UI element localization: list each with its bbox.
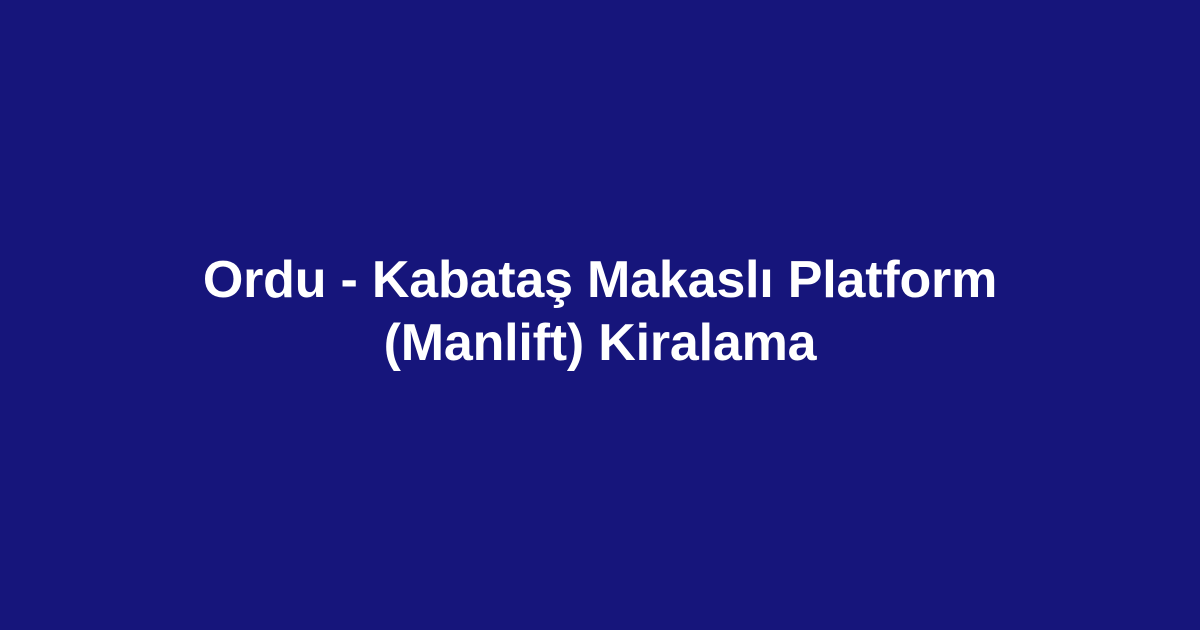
- social-share-card: Ordu - Kabataş Makaslı Platform (Manlift…: [0, 0, 1200, 630]
- card-content: Ordu - Kabataş Makaslı Platform (Manlift…: [150, 249, 1050, 375]
- page-title-line-1: Ordu - Kabataş Makaslı Platform: [150, 249, 1050, 312]
- page-title: Ordu - Kabataş Makaslı Platform (Manlift…: [150, 249, 1050, 375]
- page-title-line-2: (Manlift) Kiralama: [150, 312, 1050, 375]
